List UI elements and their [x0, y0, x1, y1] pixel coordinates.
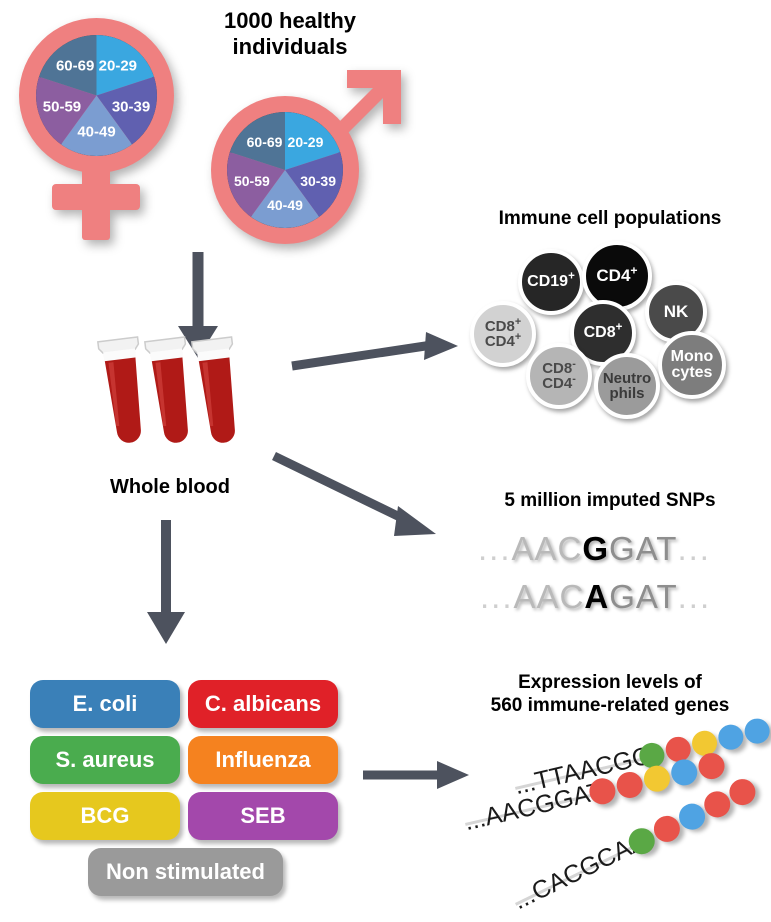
page-title-line2: individuals — [175, 34, 405, 60]
immune-cell-cd8-cd4: CD8-CD4- — [526, 343, 592, 409]
snp-left-bases: AAC — [514, 578, 585, 615]
arrow-blood-to-immune — [292, 330, 462, 380]
male-age-label-60-69: 60-69 — [247, 134, 283, 150]
male-gender-symbol: 20-2930-3940-4950-5960-69 — [205, 60, 420, 260]
stimulus-box-influenza[interactable]: Influenza — [188, 736, 338, 784]
stimulus-box-c-albicans[interactable]: C. albicans — [188, 680, 338, 728]
immune-cell-label: CD4+ — [596, 267, 637, 285]
stimulus-box-seb[interactable]: SEB — [188, 792, 338, 840]
immune-cell-cd8-cd4: CD8+CD4+ — [470, 301, 536, 367]
male-age-label-50-59: 50-59 — [234, 173, 270, 189]
immune-cell-label: CD19+ — [527, 274, 575, 290]
immune-cell-label: NK — [664, 303, 689, 321]
snp-right-bases: GAT — [609, 578, 677, 615]
dna-sequence-text: ...AACGGAT — [462, 777, 606, 837]
dna-bead — [742, 716, 771, 746]
female-age-pie-chart: 20-2930-3940-4950-5960-69 — [36, 35, 157, 156]
stimuli-panel: E. coliC. albicansS. aureusInfluenzaBCGS… — [30, 680, 350, 895]
snp-sequence-row: ...AACAGAT... — [480, 578, 711, 616]
immune-cell-label: CD8-CD4- — [542, 361, 576, 392]
snp-suffix-dots: ... — [677, 530, 711, 567]
arrow-blood-to-snps — [270, 450, 450, 550]
immune-cell-label: Monocytes — [671, 349, 714, 382]
snp-right-bases: GAT — [609, 530, 677, 567]
female-age-label-20-29: 20-29 — [99, 58, 137, 75]
stimulus-box-bcg[interactable]: BCG — [30, 792, 180, 840]
female-symbol-crossbar — [52, 184, 140, 210]
blood-tubes-graphic — [95, 335, 255, 470]
male-age-label-20-29: 20-29 — [288, 134, 324, 150]
gene-expression-strands: ...TTAACGG...AACGGAT...CACGCAA — [455, 735, 771, 915]
snp-allele: A — [584, 578, 609, 615]
dna-bead — [696, 750, 727, 781]
female-age-label-30-39: 30-39 — [112, 98, 150, 115]
snp-sequence-row: ...AACGGAT... — [478, 530, 711, 568]
snp-sequences: ...AACGGAT......AACAGAT... — [478, 530, 758, 620]
female-age-label-60-69: 60-69 — [56, 58, 94, 75]
immune-cell-neutrophils: Neutrophils — [594, 353, 660, 419]
immune-cell-monocytes: Monocytes — [658, 331, 726, 399]
expression-title: Expression levels of 560 immune-related … — [450, 672, 770, 718]
stimulus-box-non-stimulated[interactable]: Non stimulated — [88, 848, 283, 896]
snp-allele: G — [582, 530, 609, 567]
immune-cell-cluster: CD19+CD4+NKCD8+CD4+CD8+CD8-CD4-Neutrophi… — [460, 243, 760, 423]
dna-bead — [669, 757, 700, 788]
stimulus-box-e-coli[interactable]: E. coli — [30, 680, 180, 728]
dna-bead — [641, 763, 672, 794]
immune-cell-label: CD8+CD4+ — [485, 319, 521, 350]
immune-cell-label: CD8+ — [584, 325, 623, 341]
snp-left-bases: AAC — [512, 530, 583, 567]
snp-prefix-dots: ... — [480, 578, 514, 615]
expression-title-line1: Expression levels of — [450, 672, 770, 695]
male-age-pie-chart: 20-2930-3940-4950-5960-69 — [227, 112, 343, 228]
whole-blood-tubes — [95, 335, 255, 470]
page-title: 1000 healthy individuals — [175, 8, 405, 61]
immune-cell-label: Neutrophils — [603, 371, 651, 402]
male-age-label-40-49: 40-49 — [267, 197, 303, 213]
male-age-label-30-39: 30-39 — [300, 173, 336, 189]
snp-prefix-dots: ... — [478, 530, 512, 567]
snp-suffix-dots: ... — [678, 578, 712, 615]
figure-canvas: 1000 healthy individuals 20-2930-3940-49… — [0, 0, 771, 922]
snps-title: 5 million imputed SNPs — [455, 490, 765, 513]
stimulus-box-s-aureus[interactable]: S. aureus — [30, 736, 180, 784]
arrow-blood-to-stimuli — [138, 520, 198, 650]
female-age-label-40-49: 40-49 — [77, 123, 115, 140]
immune-populations-title: Immune cell populations — [455, 208, 765, 231]
immune-cell-cd19: CD19+ — [518, 249, 584, 315]
female-gender-symbol: 20-2930-3940-4950-5960-69 — [10, 14, 190, 244]
whole-blood-label: Whole blood — [75, 475, 265, 499]
expression-title-line2: 560 immune-related genes — [450, 695, 770, 718]
female-age-label-50-59: 50-59 — [43, 98, 81, 115]
page-title-line1: 1000 healthy — [175, 8, 405, 34]
dna-bead — [614, 769, 645, 800]
